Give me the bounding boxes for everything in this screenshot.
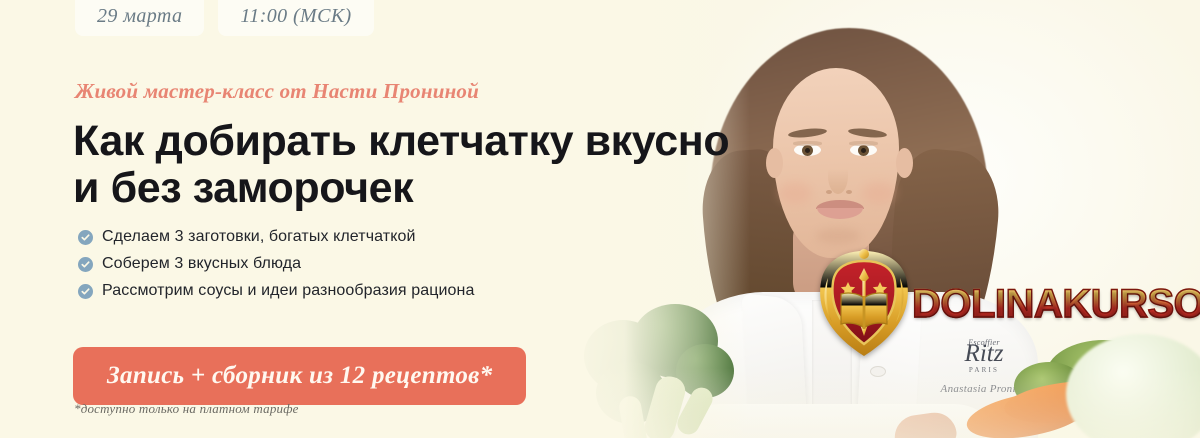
nostril-left	[826, 190, 832, 194]
headline-line-1: Как добирать клетчатку вкусно	[73, 117, 729, 165]
watermark: DOLINAKURSOV	[812, 248, 1200, 360]
page-title: Как добирать клетчатку вкусно и без замо…	[73, 118, 729, 213]
ear-right	[896, 148, 913, 178]
nostril-right	[846, 190, 852, 194]
nose	[828, 158, 848, 194]
chin-shadow	[816, 228, 860, 244]
headline-line-2: и без заморочек	[73, 165, 729, 212]
list-item-label: Сделаем 3 заготовки, богатых клетчаткой	[102, 228, 416, 246]
ear-left	[766, 148, 783, 178]
date-badge: 29 марта	[75, 0, 204, 36]
date-time-badges: 29 марта 11:00 (МСК)	[75, 0, 374, 36]
cheek-right	[862, 182, 896, 204]
subtitle: Живой мастер-класс от Насти Прониной	[75, 79, 479, 104]
list-item-label: Рассмотрим соусы и идеи разнообразия рац…	[102, 282, 474, 300]
promo-banner: Escoffier Ritz PARIS Anastasia Pronina	[0, 0, 1200, 438]
lips	[816, 200, 864, 219]
feature-list: Сделаем 3 заготовки, богатых клетчаткой …	[78, 228, 474, 309]
cta-button[interactable]: Запись + сборник из 12 рецептов*	[73, 347, 526, 405]
shield-crest-icon	[812, 248, 916, 360]
cheek-left	[778, 182, 812, 204]
list-item: Сделаем 3 заготовки, богатых клетчаткой	[78, 228, 474, 246]
time-badge: 11:00 (МСК)	[218, 0, 373, 36]
footnote: *доступно только на платном тарифе	[74, 401, 299, 417]
list-item: Соберем 3 вкусных блюда	[78, 255, 474, 273]
list-item-label: Соберем 3 вкусных блюда	[102, 255, 301, 273]
check-circle-icon	[78, 284, 93, 299]
chef-photo: Escoffier Ritz PARIS Anastasia Pronina	[560, 0, 1200, 438]
watermark-text: DOLINAKURSOV	[912, 282, 1200, 327]
photo-bottom-fade	[560, 368, 1200, 438]
eyelid-left	[793, 141, 822, 146]
list-item: Рассмотрим соусы и идеи разнообразия рац…	[78, 282, 474, 300]
check-circle-icon	[78, 257, 93, 272]
check-circle-icon	[78, 230, 93, 245]
eyelid-right	[849, 141, 878, 146]
